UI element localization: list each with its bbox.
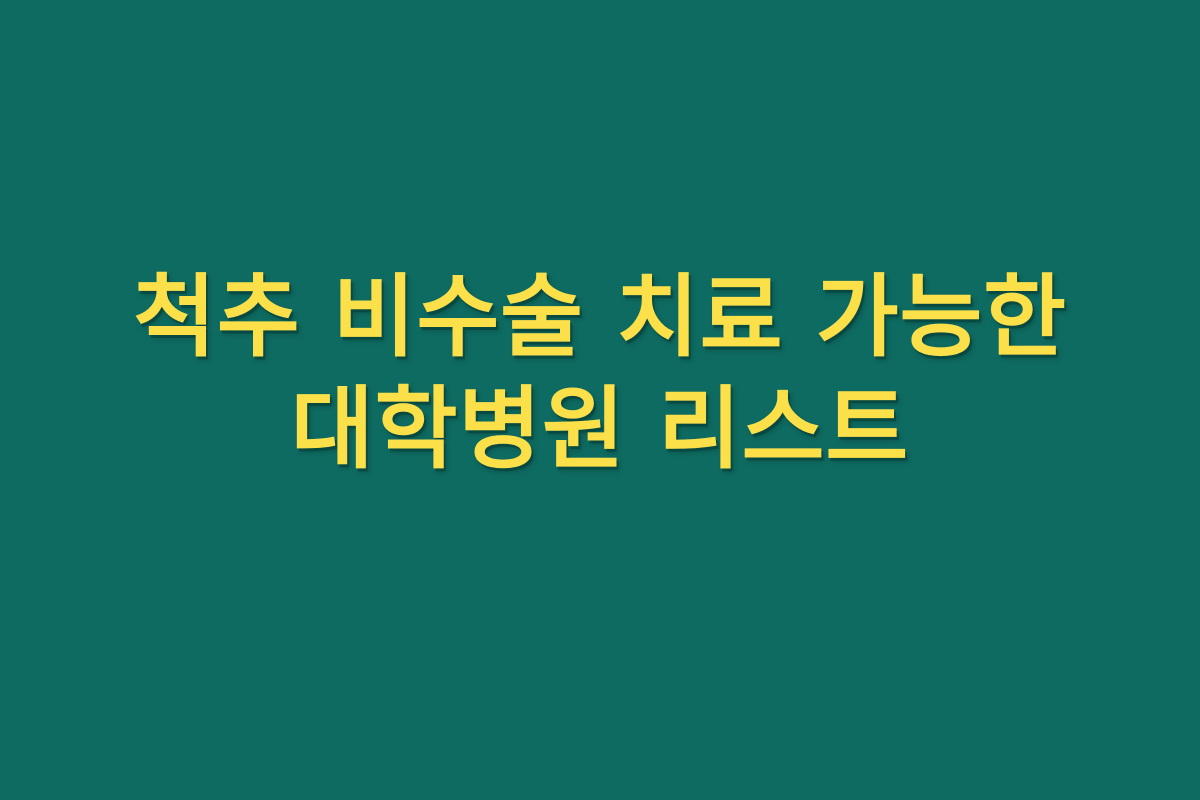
page-title: 척추 비수술 치료 가능한 대학병원 리스트 xyxy=(0,262,1200,485)
title-line-1: 척추 비수술 치료 가능한 xyxy=(0,262,1200,374)
title-line-2: 대학병원 리스트 xyxy=(0,374,1200,486)
banner-canvas: 척추 비수술 치료 가능한 대학병원 리스트 xyxy=(0,0,1200,800)
